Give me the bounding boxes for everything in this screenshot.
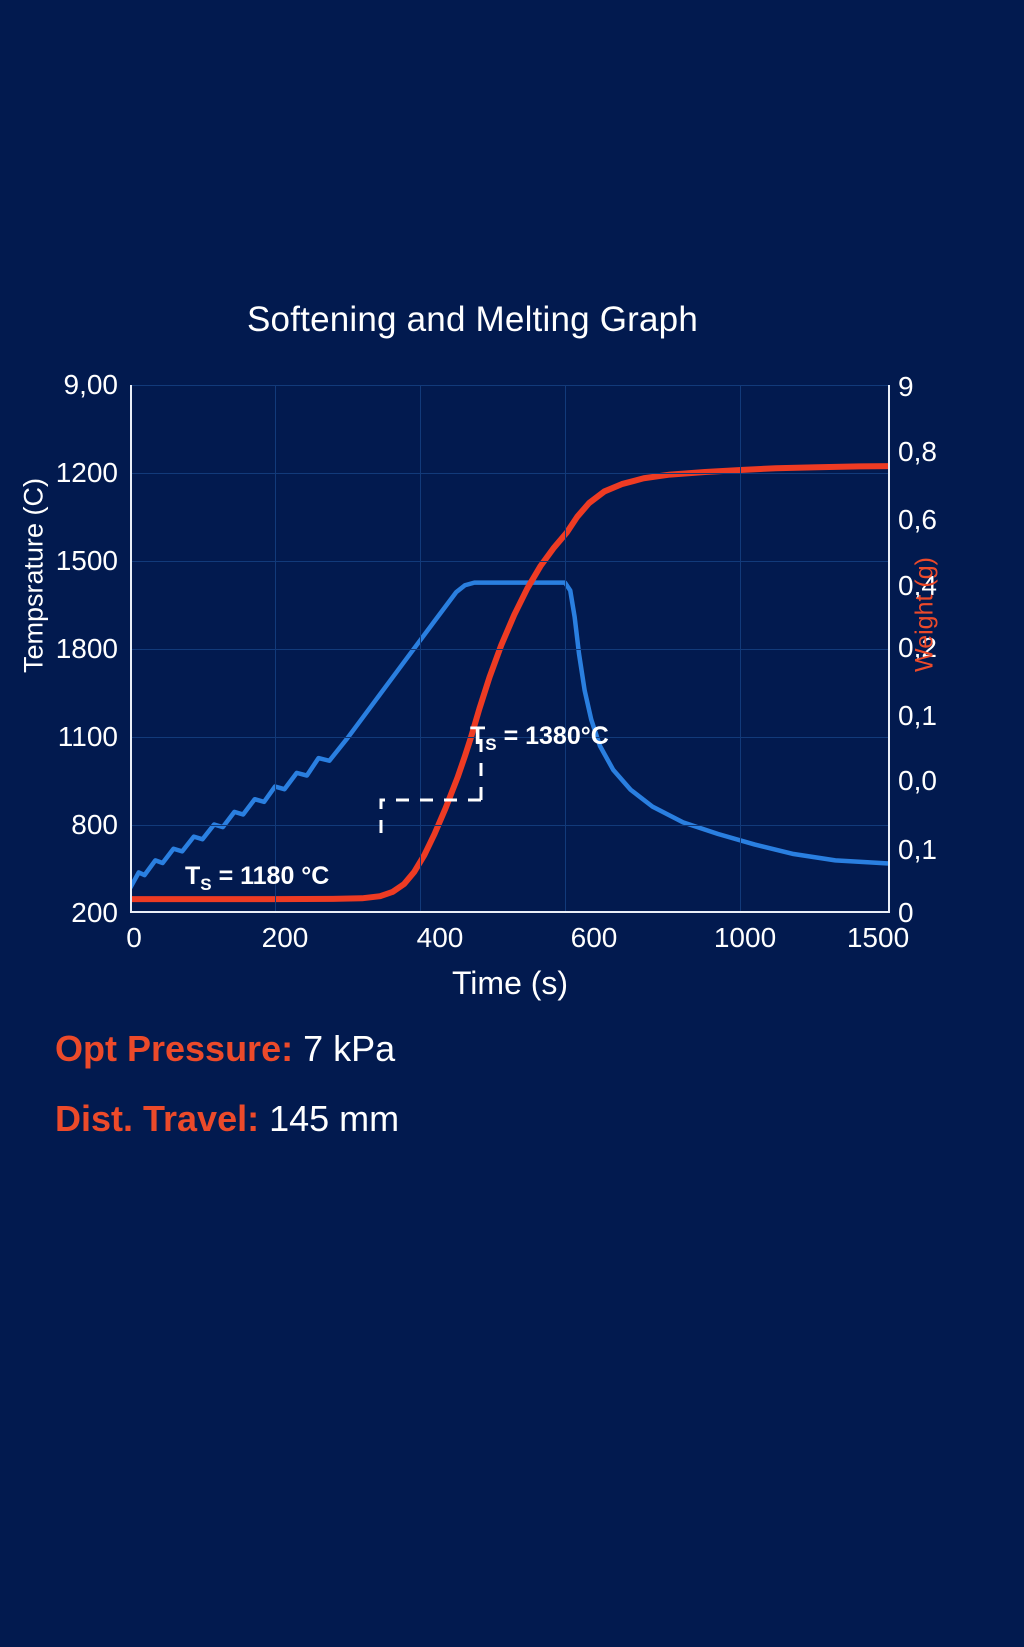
x-tick: 1000 (714, 922, 776, 954)
metric-dist-travel-label: Dist. Travel: (55, 1098, 259, 1139)
annotation-ts-1380-prefix: T (470, 722, 485, 750)
x-tick: 200 (262, 922, 309, 954)
chart-figure: Softening and Melting Graph 9,00 1200 15… (0, 0, 1024, 1647)
annotation-ts-1180: TS = 1180 °C (185, 862, 329, 895)
annotation-ts-1180-prefix: T (185, 862, 200, 890)
y-tick-left: 800 (71, 809, 118, 841)
metric-opt-pressure-label: Opt Pressure: (55, 1028, 293, 1069)
y-tick-left: 1500 (56, 545, 118, 577)
y-tick-left: 1100 (58, 721, 118, 753)
annotation-ts-1380: TS = 1380°C (470, 722, 609, 755)
x-axis-label: Time (s) (130, 965, 890, 1002)
y-tick-left: 1800 (56, 633, 118, 665)
metric-opt-pressure-value: 7 kPa (303, 1028, 395, 1069)
annotation-ts-1180-sub: S (200, 875, 211, 894)
annotation-ts-1380-suffix: = 1380°C (497, 722, 609, 750)
metric-opt-pressure: Opt Pressure: 7 kPa (55, 1028, 395, 1070)
y-axis-right-line (888, 385, 890, 913)
annotation-ts-1380-sub: S (485, 735, 496, 754)
y-tick-left: 1200 (56, 457, 118, 489)
y-tick-right: 0,1 (898, 834, 937, 866)
metric-dist-travel-value: 145 mm (269, 1098, 399, 1139)
leader-line-ts-1180 (381, 800, 481, 833)
y-tick-right: 9 (898, 371, 914, 403)
y-tick-left: 200 (71, 897, 118, 929)
x-axis-line (130, 911, 890, 913)
metric-dist-travel: Dist. Travel: 145 mm (55, 1098, 399, 1140)
y-axis-right-ticks: 9 0,8 0,6 0,4 0,2 0,1 0,0 0,1 0 (898, 0, 1018, 1647)
x-tick: 600 (571, 922, 618, 954)
y-axis-left-line (130, 385, 132, 913)
x-tick: 400 (417, 922, 464, 954)
y-axis-right-label: Weight (g) (911, 445, 940, 785)
plot-area (130, 385, 890, 912)
y-axis-left-label: Tempsrature (C) (19, 376, 50, 776)
y-tick-left: 9,00 (64, 369, 119, 401)
x-tick: 0 (126, 922, 142, 954)
annotation-leaders (130, 385, 890, 912)
annotation-ts-1180-suffix: = 1180 °C (212, 862, 330, 890)
x-tick: 1500 (847, 922, 909, 954)
chart-title: Softening and Melting Graph (0, 300, 945, 340)
y-axis-left-ticks: 9,00 1200 1500 1800 1100 800 200 (0, 0, 118, 1647)
